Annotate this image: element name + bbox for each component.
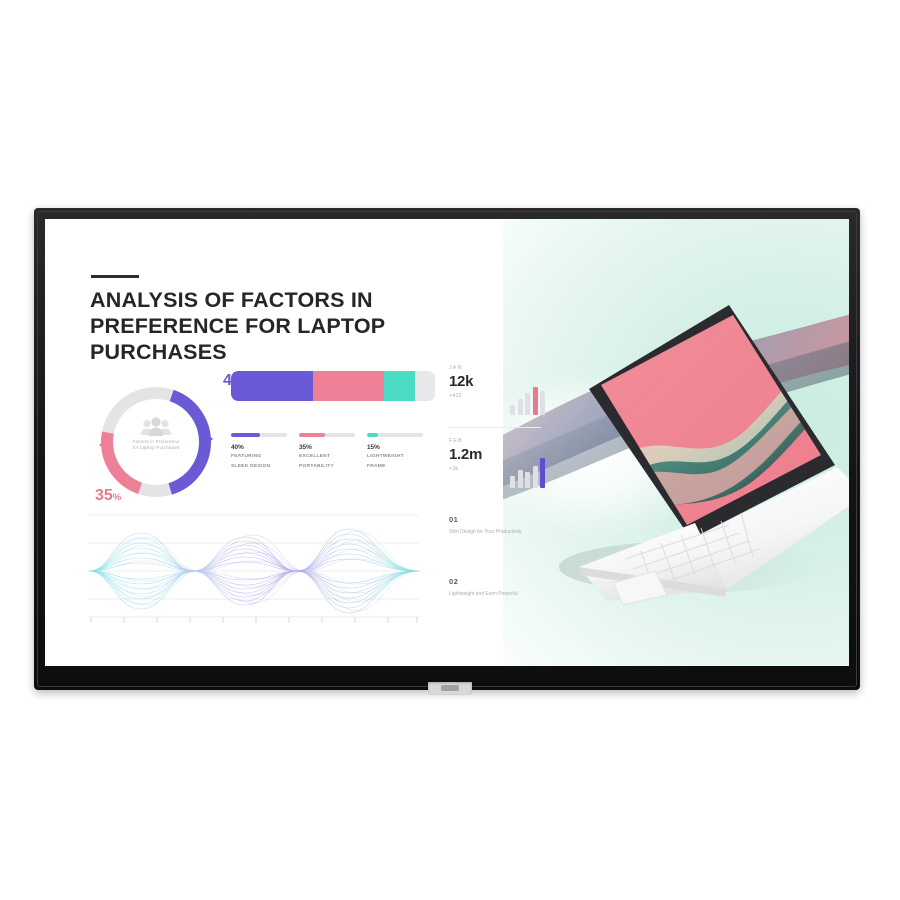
legend-percent: 35% — [299, 444, 367, 451]
chart-xticks — [91, 617, 417, 623]
list-item-text: Lightweight and Even Powerful — [449, 591, 541, 598]
legend-percent: 40% — [231, 444, 299, 451]
monitor-screen: ANALYSIS OF FACTORS IN PREFERENCE FOR LA… — [45, 219, 849, 666]
legend-caption-line-2: PORTABILITY — [299, 464, 367, 471]
waveform-chart — [89, 507, 419, 632]
laptop-product-scene — [503, 219, 849, 666]
monitor-logo — [441, 685, 459, 691]
legend-track — [231, 433, 287, 437]
kpi-month: FEB — [449, 438, 547, 444]
kpi-minibar — [525, 393, 530, 415]
numbered-list-item-01: 01 Slim Design for Your Productivity — [449, 515, 541, 536]
legend-caption-line-1: FEATURING — [231, 454, 299, 461]
kpi-stats: JAN 12k +432 FEB 1 — [449, 365, 547, 496]
legend-track — [299, 433, 355, 437]
legend-caption-line-2: FRAME — [367, 464, 435, 471]
kpi-minibar — [518, 399, 523, 415]
people-icon — [139, 417, 173, 437]
waveform-chart-svg — [89, 507, 419, 632]
stacked-bar-block: 40% FEATURING SLEEK DESIGN 35% EXCELLENT… — [231, 371, 435, 470]
kpi-divider — [449, 427, 541, 428]
legend-caption-line-1: LIGHTWEIGHT — [367, 454, 435, 461]
legend-track-fill — [231, 433, 260, 437]
stacked-bar-segment-portability — [313, 371, 384, 401]
kpi-minibars — [510, 385, 545, 415]
numbered-list: 01 Slim Design for Your Productivity 02 … — [449, 515, 541, 598]
donut-label-secondary-value: 35 — [95, 487, 113, 504]
legend-caption-line-1: EXCELLENT — [299, 454, 367, 461]
kpi-minibar — [533, 466, 538, 488]
stacked-bar — [231, 371, 435, 401]
numbered-list-item-02: 02 Lightweight and Even Powerful — [449, 577, 541, 598]
stacked-bar-segment-lightweight — [384, 371, 415, 401]
kpi-minibars — [510, 458, 545, 488]
title-line-1: ANALYSIS OF FACTORS IN — [90, 287, 490, 313]
laptop-illustration-icon — [549, 267, 849, 627]
bar-legend: 40% FEATURING SLEEK DESIGN 35% EXCELLENT… — [231, 433, 435, 470]
donut-label-secondary: 35% — [95, 487, 121, 505]
list-item-number: 01 — [449, 515, 541, 524]
kpi-minibar-highlight — [533, 387, 538, 415]
screenshot-root: ANALYSIS OF FACTORS IN PREFERENCE FOR LA… — [0, 0, 900, 900]
kpi-minibar-highlight — [540, 458, 545, 488]
legend-track — [367, 433, 423, 437]
title-rule — [91, 275, 139, 278]
monitor-device: ANALYSIS OF FACTORS IN PREFERENCE FOR LA… — [34, 208, 860, 690]
legend-percent: 15% — [367, 444, 435, 451]
donut-center-label: Factors in Preference for Laptop Purchas… — [117, 417, 195, 469]
title-line-2: PREFERENCE FOR LAPTOP PURCHASES — [90, 313, 490, 365]
legend-item-lightweight: 15% LIGHTWEIGHT FRAME — [367, 433, 435, 470]
kpi-minibar — [510, 476, 515, 488]
legend-caption-line-2: SLEEK DESIGN — [231, 464, 299, 471]
page-title: ANALYSIS OF FACTORS IN PREFERENCE FOR LA… — [90, 287, 490, 365]
chart-gridlines — [89, 515, 419, 617]
donut-label-secondary-unit: % — [113, 492, 121, 503]
kpi-jan: JAN 12k +432 — [449, 365, 547, 423]
legend-track-fill — [367, 433, 378, 437]
list-item-number: 02 — [449, 577, 541, 586]
stacked-bar-segment-design — [231, 371, 313, 401]
legend-item-portability: 35% EXCELLENT PORTABILITY — [299, 433, 367, 470]
kpi-minibar — [540, 391, 545, 415]
kpi-minibar — [525, 472, 530, 488]
legend-track-fill — [299, 433, 325, 437]
donut-chart: Factors in Preference for Laptop Purchas… — [91, 377, 221, 507]
legend-item-design: 40% FEATURING SLEEK DESIGN — [231, 433, 299, 470]
list-item-text: Slim Design for Your Productivity — [449, 529, 541, 536]
kpi-minibar — [510, 405, 515, 415]
monitor-stand-nub — [428, 682, 472, 695]
kpi-month: JAN — [449, 365, 547, 371]
presentation-slide: ANALYSIS OF FACTORS IN PREFERENCE FOR LA… — [45, 219, 849, 666]
kpi-feb: FEB 1.2m +3k — [449, 438, 547, 496]
kpi-minibar — [518, 470, 523, 488]
donut-center-line-2: for Laptop Purchases — [117, 445, 195, 451]
